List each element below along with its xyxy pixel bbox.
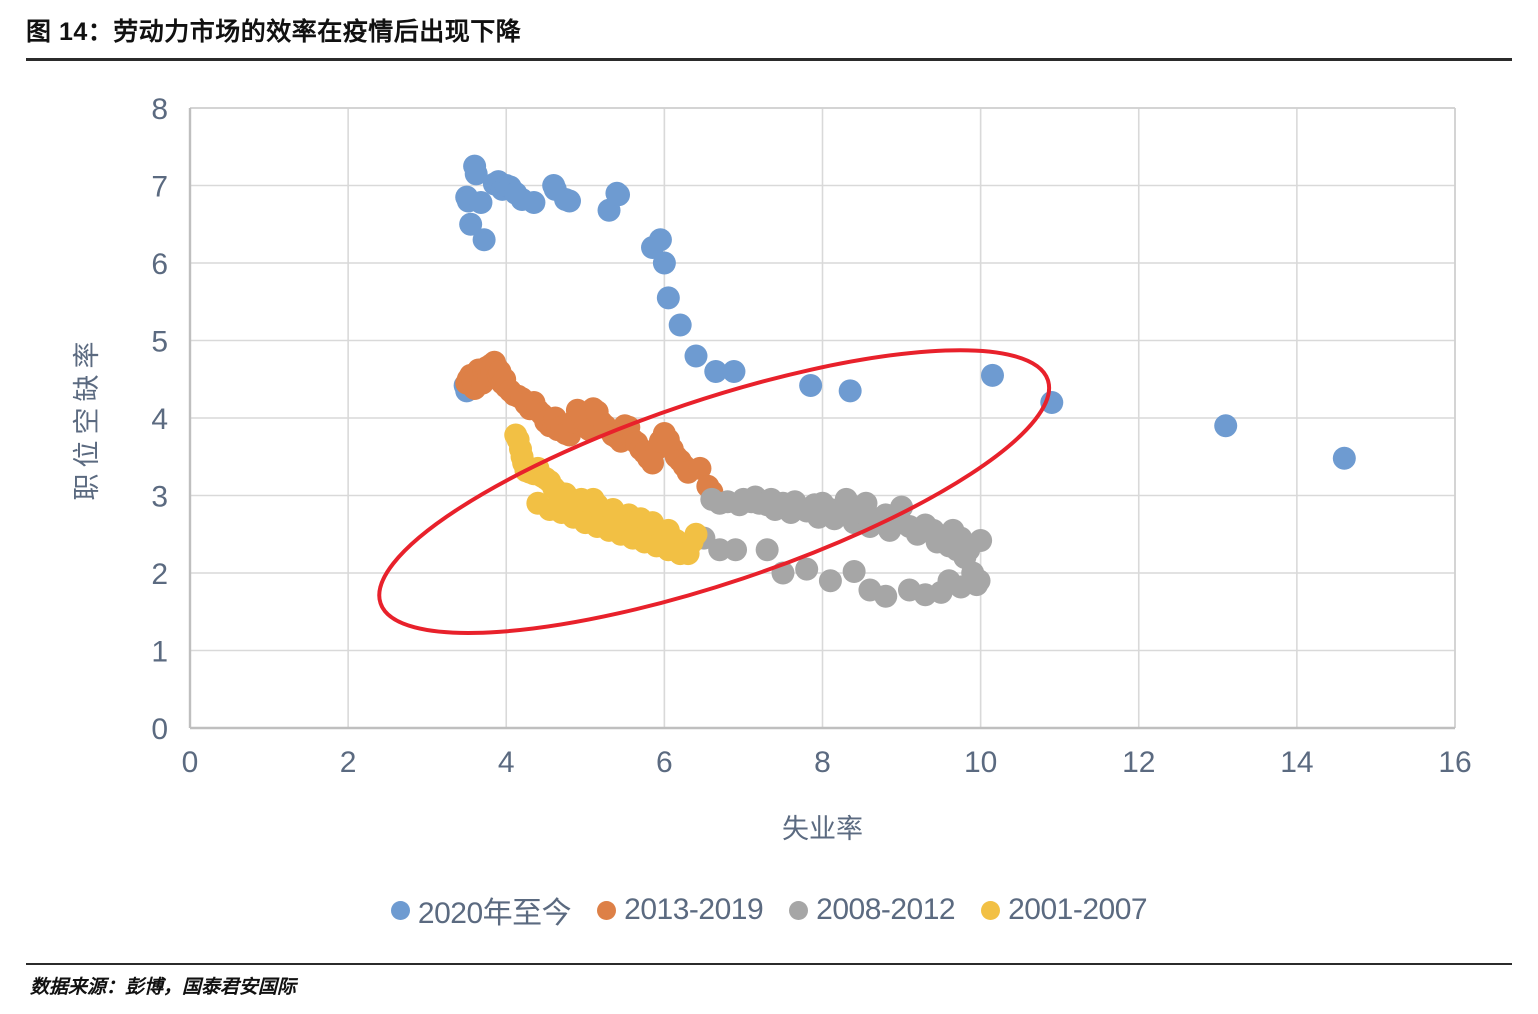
data-point bbox=[669, 314, 692, 337]
legend-item-4[interactable]: 2001-2007 bbox=[981, 893, 1147, 927]
data-point bbox=[669, 542, 692, 565]
x-axis-title: 失业率 bbox=[782, 814, 863, 844]
data-point bbox=[843, 560, 866, 583]
x-tick-label: 4 bbox=[498, 746, 515, 779]
x-tick-label: 14 bbox=[1280, 746, 1313, 779]
data-point bbox=[969, 529, 992, 552]
y-tick-label: 2 bbox=[151, 558, 168, 591]
chart-area: 0246810121416012345678失业率职位空缺率 bbox=[0, 72, 1538, 952]
data-point bbox=[799, 374, 822, 397]
data-point bbox=[756, 538, 779, 561]
legend-swatch-icon bbox=[391, 901, 410, 920]
data-point bbox=[724, 538, 747, 561]
legend-item-3[interactable]: 2008-2012 bbox=[789, 893, 955, 927]
legend-swatch-icon bbox=[789, 901, 808, 920]
data-point bbox=[473, 228, 496, 251]
data-point bbox=[558, 190, 581, 213]
x-tick-label: 0 bbox=[182, 746, 199, 779]
data-point bbox=[981, 364, 1004, 387]
y-tick-label: 1 bbox=[151, 636, 168, 669]
y-tick-label: 7 bbox=[151, 171, 168, 204]
y-axis-title: 职位空缺率 bbox=[72, 336, 102, 501]
legend-label: 2020年至今 bbox=[418, 888, 571, 932]
data-point bbox=[657, 286, 680, 309]
data-point bbox=[819, 569, 842, 592]
title-divider bbox=[26, 58, 1512, 61]
x-tick-label: 2 bbox=[340, 746, 357, 779]
data-point bbox=[1214, 414, 1237, 437]
figure-title: 图 14：劳动力市场的效率在疫情后出现下降 bbox=[26, 12, 521, 48]
footer-divider bbox=[26, 963, 1512, 965]
x-tick-label: 10 bbox=[964, 746, 997, 779]
x-tick-label: 6 bbox=[656, 746, 673, 779]
source-note: 数据来源：彭博，国泰君安国际 bbox=[30, 972, 296, 999]
x-tick-label: 8 bbox=[814, 746, 831, 779]
y-tick-label: 6 bbox=[151, 248, 168, 281]
legend-item-2[interactable]: 2013-2019 bbox=[597, 893, 763, 927]
data-point bbox=[1333, 447, 1356, 470]
scatter-plot: 0246810121416012345678失业率职位空缺率 bbox=[0, 72, 1538, 952]
data-point bbox=[469, 191, 492, 214]
x-tick-label: 16 bbox=[1438, 746, 1471, 779]
data-point bbox=[874, 585, 897, 608]
legend-item-1[interactable]: 2020年至今 bbox=[391, 888, 571, 932]
data-point bbox=[649, 228, 672, 251]
data-point bbox=[722, 360, 745, 383]
data-point bbox=[795, 558, 818, 581]
legend-swatch-icon bbox=[597, 901, 616, 920]
y-tick-label: 4 bbox=[151, 403, 168, 436]
x-tick-label: 12 bbox=[1122, 746, 1155, 779]
y-tick-label: 8 bbox=[151, 93, 168, 126]
legend-label: 2001-2007 bbox=[1008, 893, 1147, 927]
data-point bbox=[685, 523, 708, 546]
legend-swatch-icon bbox=[981, 901, 1000, 920]
data-point bbox=[653, 252, 676, 275]
data-point bbox=[607, 183, 630, 206]
data-point bbox=[685, 345, 708, 368]
data-point bbox=[949, 575, 972, 598]
data-point bbox=[522, 191, 545, 214]
legend-label: 2013-2019 bbox=[624, 893, 763, 927]
chart-legend: 2020年至今2013-20192008-20122001-2007 bbox=[0, 888, 1538, 932]
y-tick-label: 3 bbox=[151, 481, 168, 514]
y-tick-label: 0 bbox=[151, 713, 168, 746]
data-point bbox=[839, 379, 862, 402]
legend-label: 2008-2012 bbox=[816, 893, 955, 927]
y-tick-label: 5 bbox=[151, 326, 168, 359]
